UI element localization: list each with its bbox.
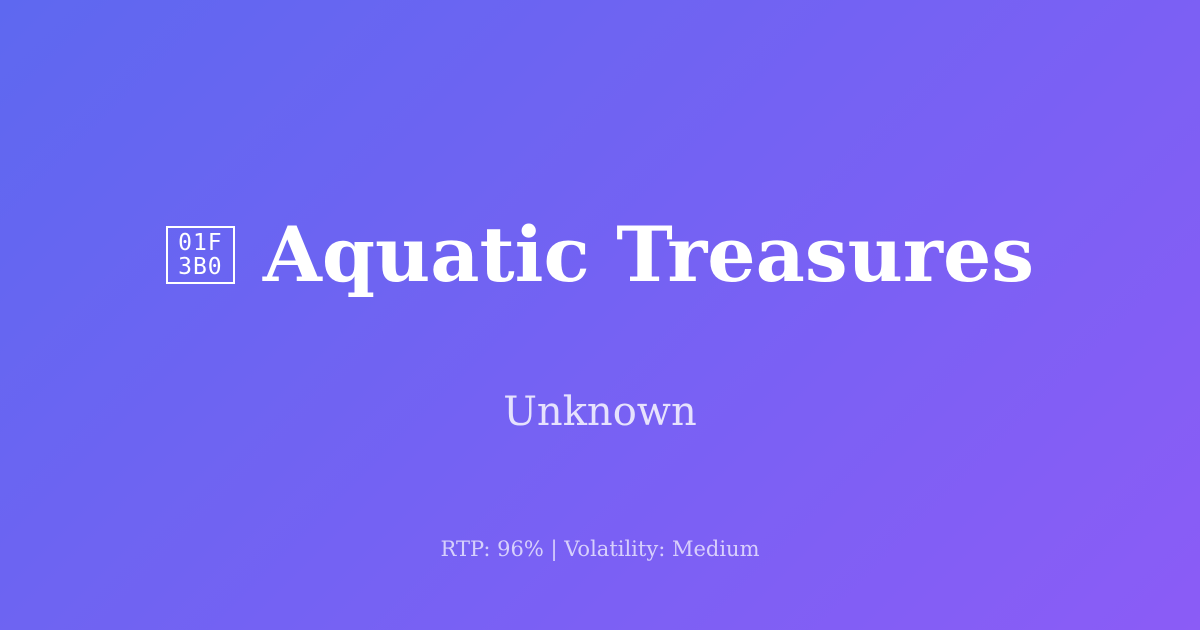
tofu-codepoint-row-top: 01F xyxy=(178,231,223,255)
page-title: Aquatic Treasures xyxy=(263,217,1034,293)
game-og-card: 01F 3B0 Aquatic Treasures Unknown RTP: 9… xyxy=(0,0,1200,630)
game-provider: Unknown xyxy=(503,390,697,434)
slot-machine-icon: 01F 3B0 xyxy=(166,226,235,284)
tofu-codepoint-row-bottom: 3B0 xyxy=(178,255,223,279)
game-meta-line: RTP: 96% | Volatility: Medium xyxy=(0,537,1200,562)
title-row: 01F 3B0 Aquatic Treasures xyxy=(0,166,1200,344)
